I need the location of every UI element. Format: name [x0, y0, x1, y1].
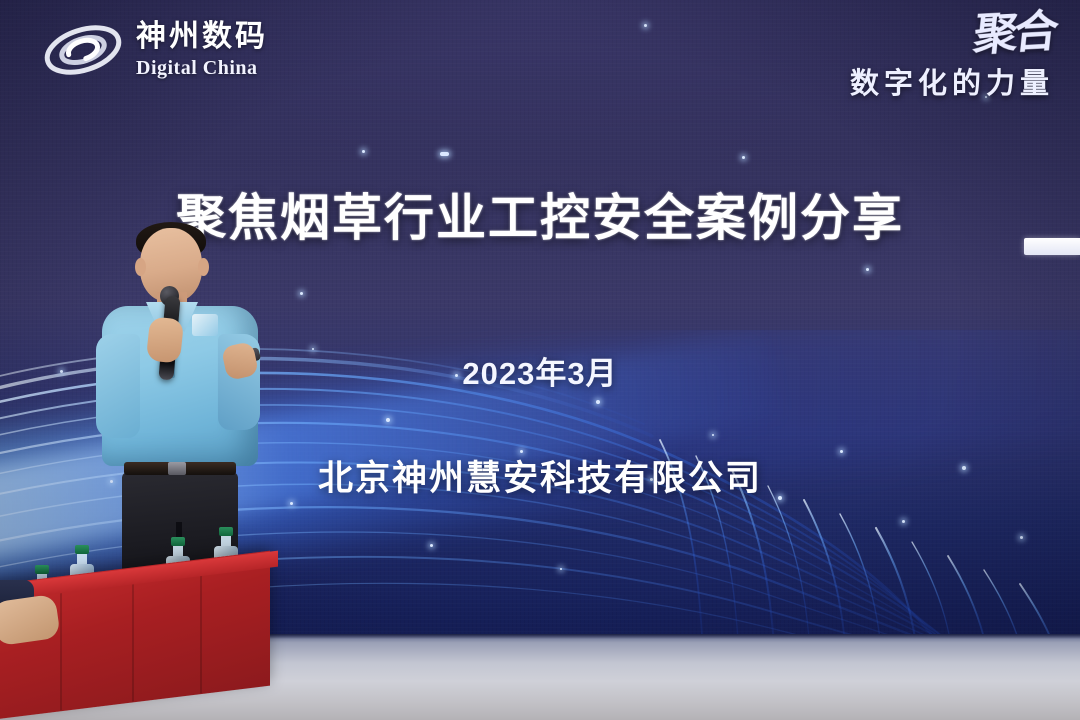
- speaker-sleeve-left: [96, 334, 140, 438]
- screen-edge-marker: [1024, 238, 1080, 255]
- speaker-belt-buckle: [168, 462, 186, 475]
- event-slogan-logo: 聚合 数字化的力量: [850, 14, 1054, 102]
- event-slogan-subtitle: 数字化的力量: [850, 60, 1054, 102]
- event-calligraphy: 聚合: [972, 12, 1057, 56]
- speaker-ear-left: [135, 258, 146, 276]
- conference-photo: 神州数码 Digital China 聚合 数字化的力量 聚焦烟草行业工控安全案…: [0, 0, 1080, 720]
- logo-chinese-name: 神州数码: [136, 22, 268, 52]
- speaker-ear-right: [198, 258, 209, 276]
- speaker-hand-left: [146, 316, 184, 363]
- swirl-logo-icon: [42, 18, 124, 82]
- speaker-chest-logo: [192, 314, 218, 336]
- digital-china-logo: 神州数码 Digital China: [42, 18, 268, 82]
- logo-english-name: Digital China: [136, 58, 268, 78]
